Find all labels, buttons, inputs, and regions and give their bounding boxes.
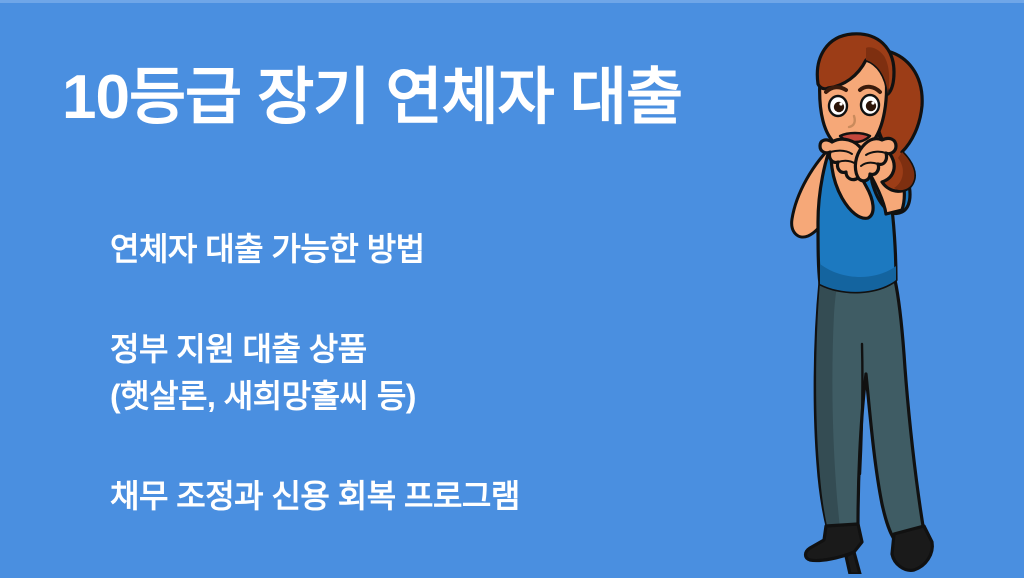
page-title: 10등급 장기 연체자 대출 [62, 62, 682, 133]
bullet-line-1: 연체자 대출 가능한 방법 [110, 226, 730, 272]
left-pupil [834, 102, 844, 112]
list-item: 채무 조정과 신용 회복 프로그램 [110, 473, 730, 519]
list-item: 정부 지원 대출 상품 (햇살론, 새희망홀씨 등) [110, 326, 730, 419]
bullet-line-1: 채무 조정과 신용 회복 프로그램 [110, 473, 730, 519]
bullet-line-1: 정부 지원 대출 상품 [110, 326, 730, 372]
top-edge-strip [0, 0, 1024, 3]
left-eye-highlight [839, 102, 842, 105]
right-shoe [892, 526, 932, 570]
worried-woman-illustration [762, 14, 992, 574]
slide-canvas: 10등급 장기 연체자 대출 연체자 대출 가능한 방법 정부 지원 대출 상품… [0, 0, 1024, 578]
right-pupil [866, 101, 876, 111]
left-shoe-heel [846, 552, 860, 574]
right-eye-highlight [871, 101, 874, 104]
bullet-list: 연체자 대출 가능한 방법 정부 지원 대출 상품 (햇살론, 새희망홀씨 등)… [110, 226, 730, 520]
bullet-line-2: (햇살론, 새희망홀씨 등) [110, 373, 730, 419]
list-item: 연체자 대출 가능한 방법 [110, 226, 730, 272]
